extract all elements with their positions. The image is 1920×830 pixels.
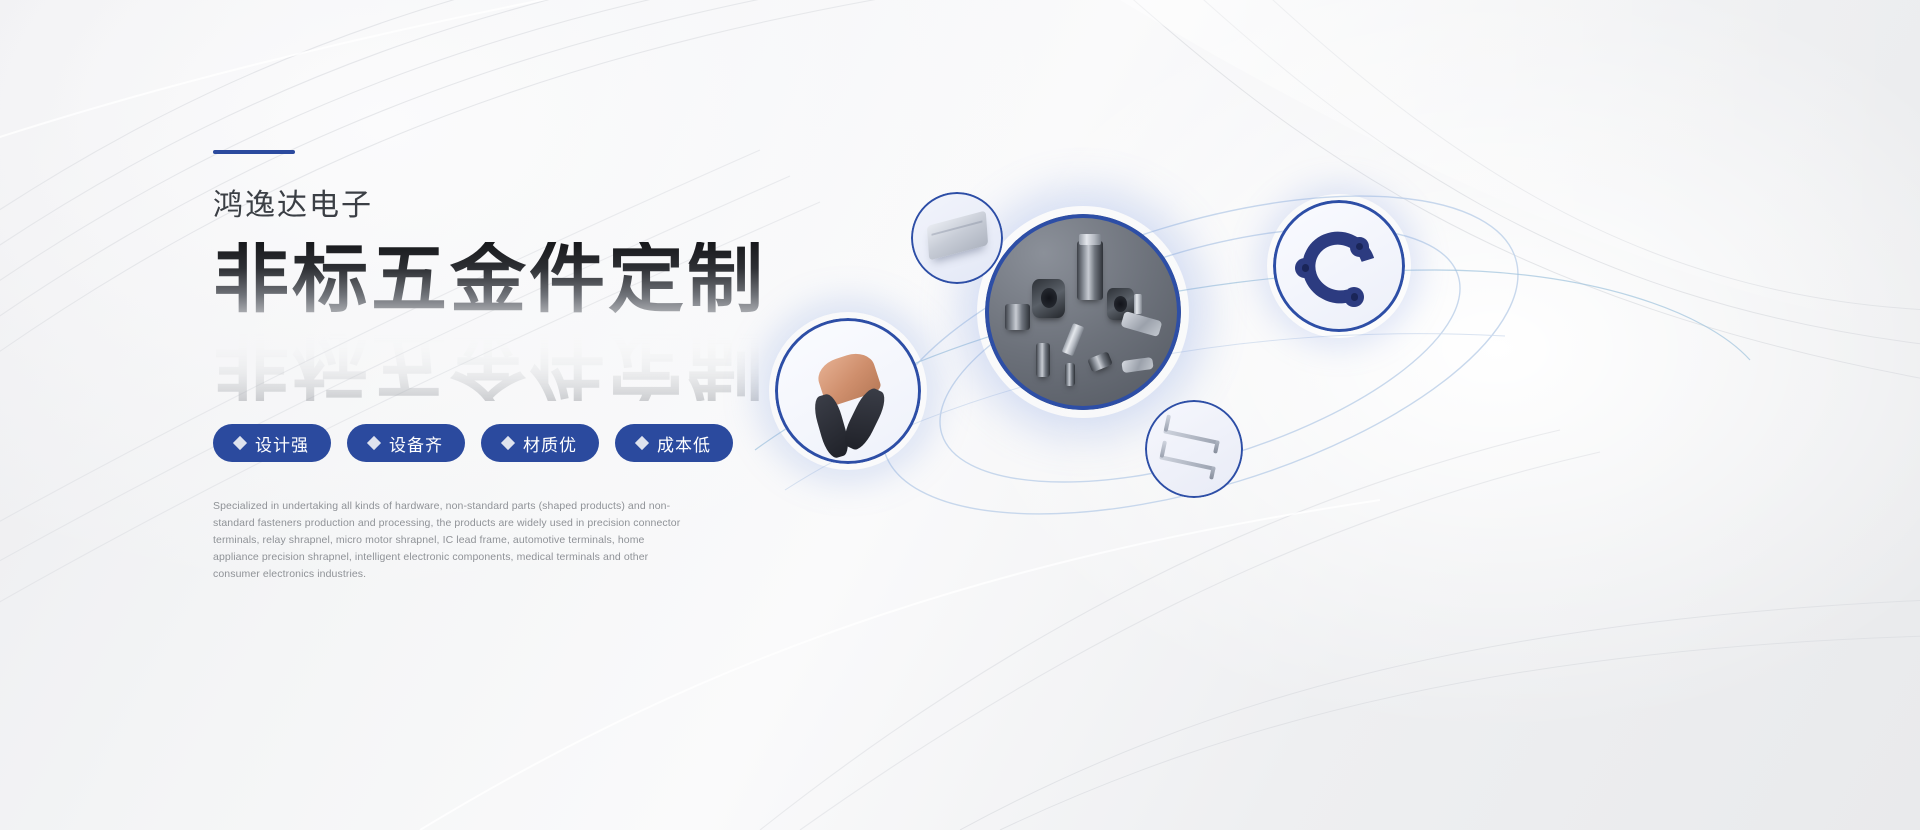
bubble-l-brackets[interactable] xyxy=(1145,400,1243,498)
bracket-icon xyxy=(1163,429,1219,444)
machined-parts-art xyxy=(985,214,1181,410)
badge-material[interactable]: 材质优 xyxy=(481,424,599,462)
ring-lug-icon xyxy=(1295,258,1315,278)
diamond-icon xyxy=(501,436,515,450)
diamond-icon xyxy=(233,436,247,450)
bracket-icon xyxy=(1159,455,1215,470)
badge-design[interactable]: 设计强 xyxy=(213,424,331,462)
bubble-precision-parts[interactable] xyxy=(985,214,1181,410)
enclosure-body-icon xyxy=(926,210,987,260)
retaining-ring-art xyxy=(1273,200,1405,332)
badge-label: 材质优 xyxy=(523,431,577,456)
ring-lug-icon xyxy=(1350,237,1370,257)
l-bracket-art xyxy=(1145,400,1243,498)
bubble-image-precision-parts xyxy=(985,214,1181,410)
part-stud-icon xyxy=(1134,294,1142,314)
part-lever-plate-icon xyxy=(1122,357,1155,373)
bubble-retaining-ring[interactable] xyxy=(1273,200,1405,332)
badge-cost[interactable]: 成本低 xyxy=(615,424,733,462)
bubble-image-retaining-ring xyxy=(1273,200,1405,332)
diamond-icon xyxy=(635,436,649,450)
hero-banner: 鸿逸达电子 非标五金件定制 非标五金件定制 设计强 设备齐 材质优 成本低 xyxy=(0,0,1920,830)
diamond-icon xyxy=(367,436,381,450)
part-pin-icon xyxy=(1065,363,1075,387)
badge-label: 设计强 xyxy=(255,431,309,456)
part-lever-plate-icon xyxy=(1121,311,1163,337)
bubble-image-l-brackets xyxy=(1145,400,1243,498)
part-elbow-icon xyxy=(1087,352,1112,373)
bubble-copper-clamp[interactable] xyxy=(775,318,921,464)
ring-lug-icon xyxy=(1344,287,1364,307)
part-fitting-icon xyxy=(1005,304,1030,329)
part-cap-icon xyxy=(1079,234,1101,246)
badge-equipment[interactable]: 设备齐 xyxy=(347,424,465,462)
product-showcase xyxy=(745,150,1755,570)
part-pin-icon xyxy=(1036,343,1050,376)
badge-label: 设备齐 xyxy=(389,431,443,456)
clamp-grip-icon xyxy=(810,392,852,461)
bubble-image-copper-clamp xyxy=(775,318,921,464)
accent-rule xyxy=(213,150,295,154)
part-cylinder-icon xyxy=(1077,241,1102,300)
headline-reflection: 非标五金件定制 xyxy=(213,325,766,401)
part-spark-plug-icon xyxy=(1062,323,1085,356)
copper-clamp-art xyxy=(775,318,921,464)
part-hex-nut-icon xyxy=(1032,279,1065,318)
company-description: Specialized in undertaking all kinds of … xyxy=(213,498,683,583)
badge-label: 成本低 xyxy=(657,431,711,456)
